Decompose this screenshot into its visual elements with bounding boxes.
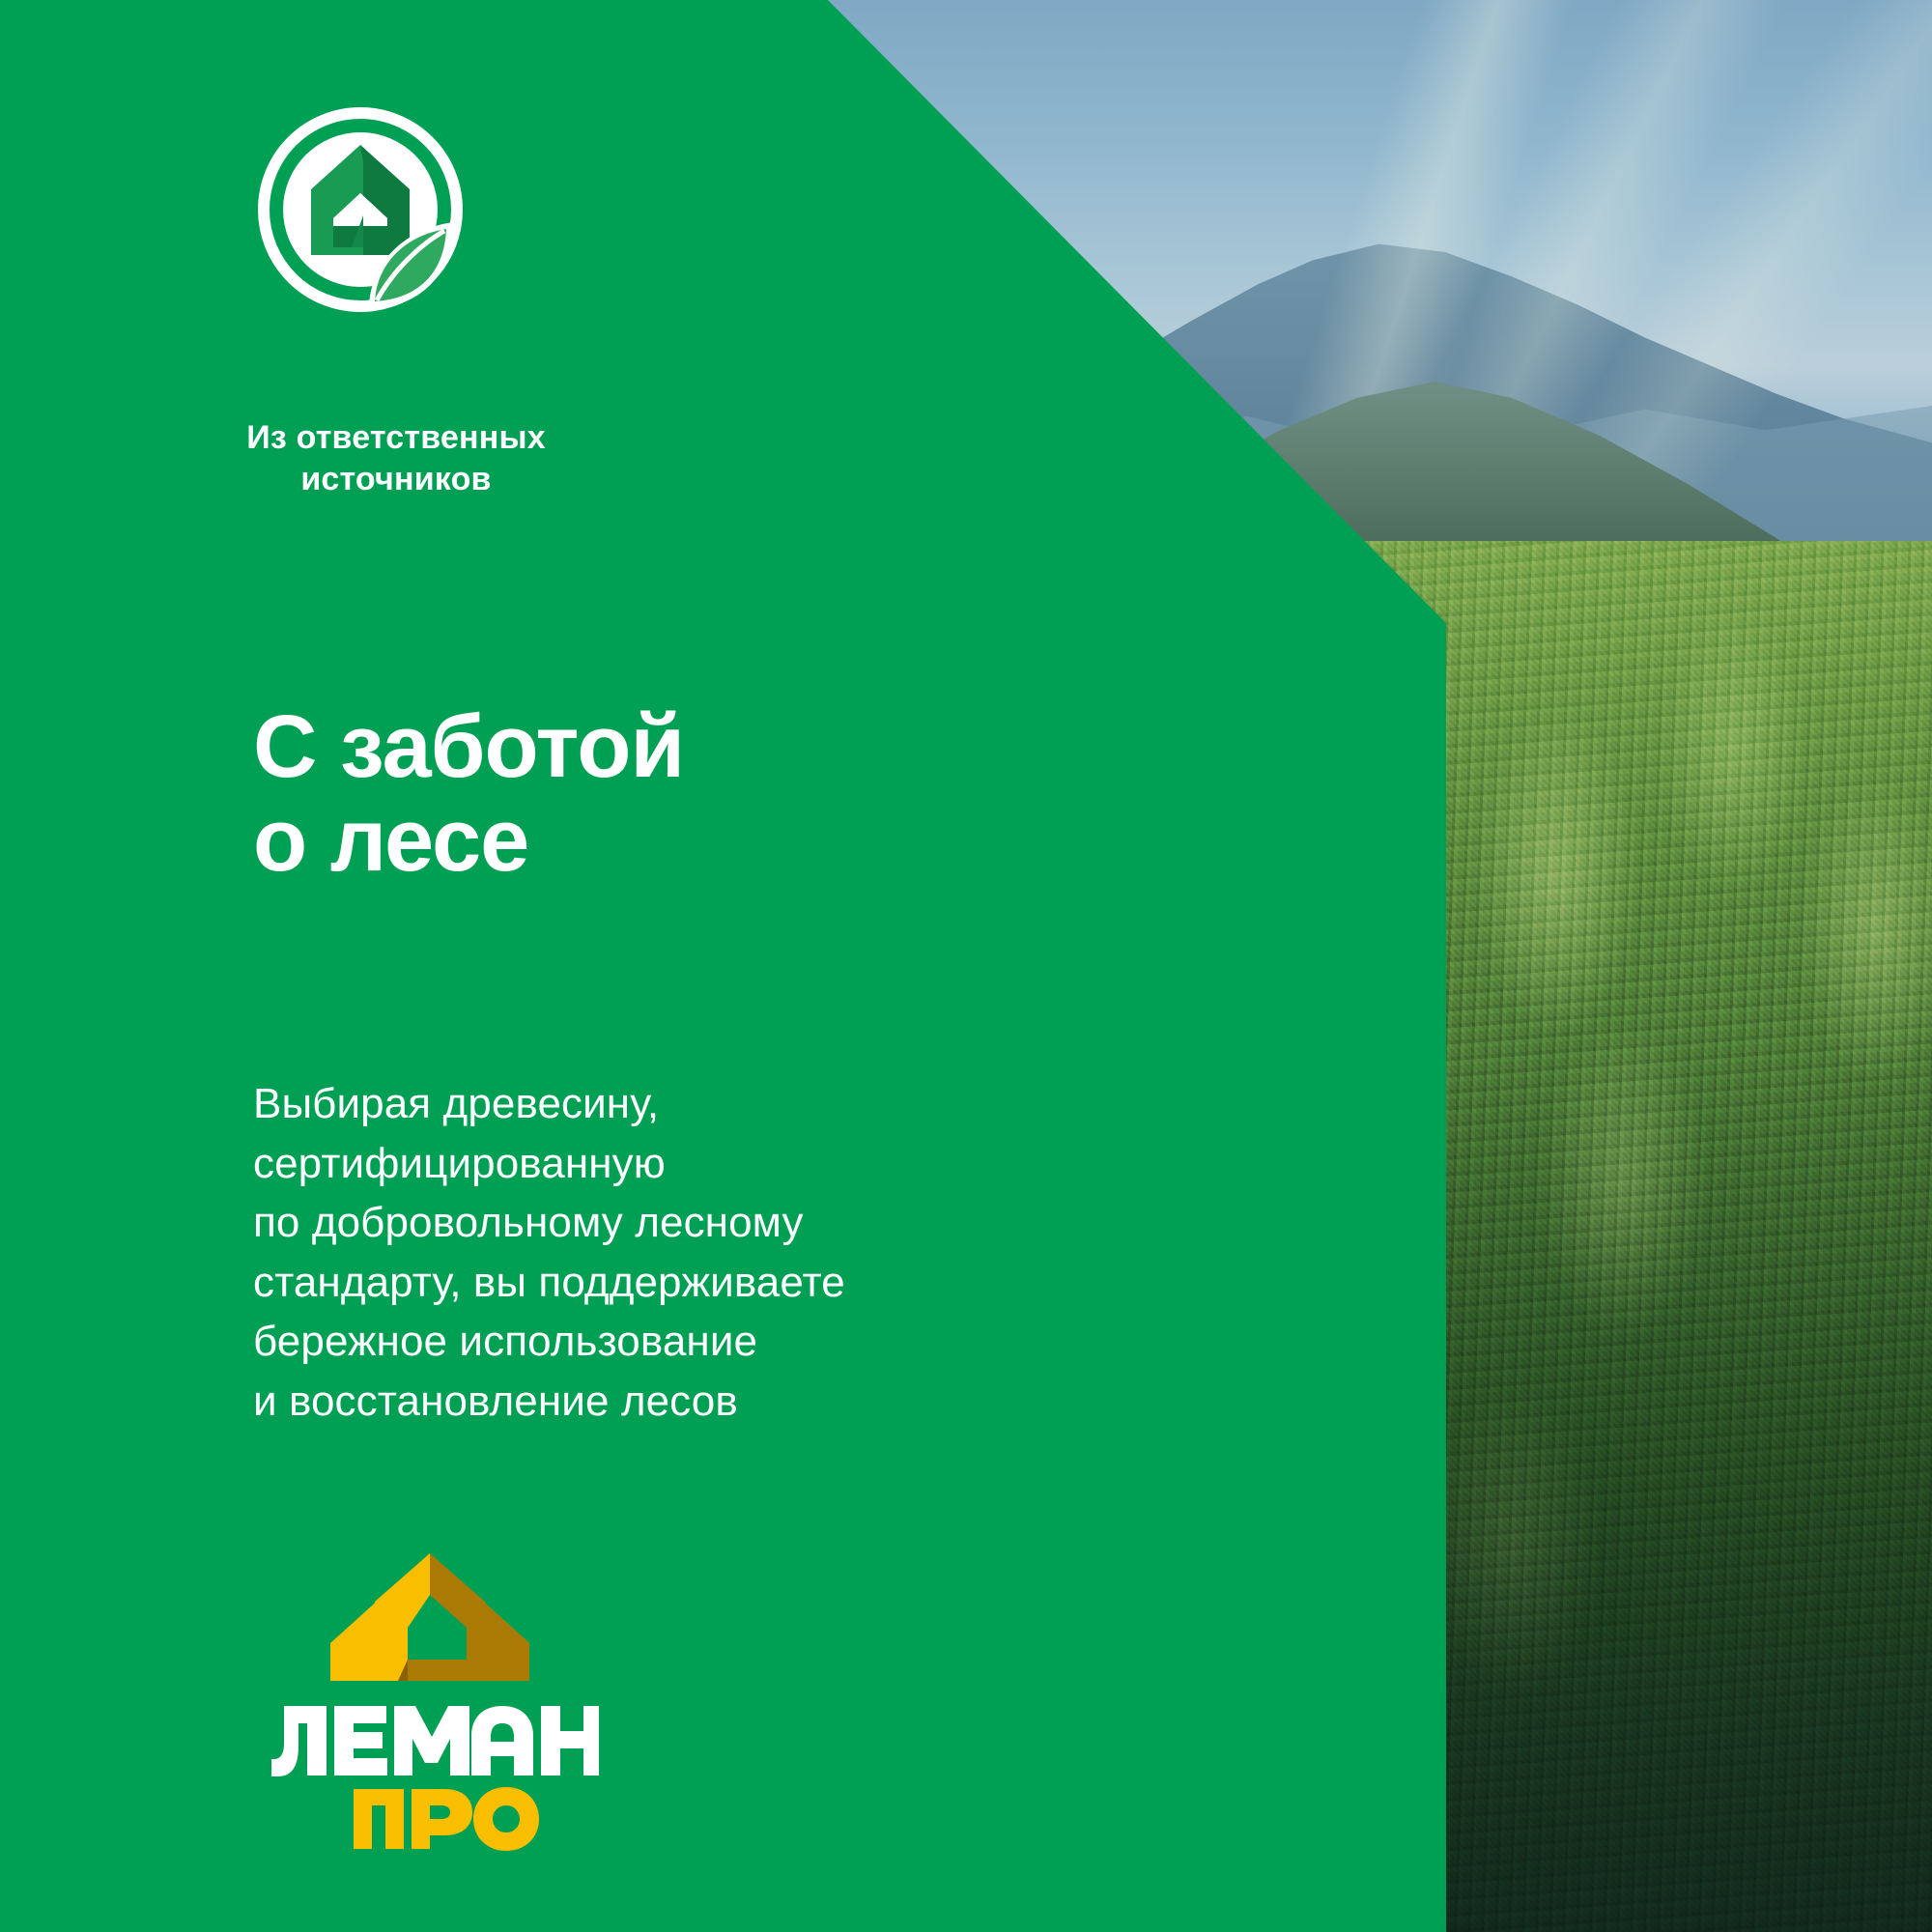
pro-wordmark xyxy=(354,1787,539,1851)
responsible-sourcing-badge-icon xyxy=(255,104,466,315)
badge-caption: Из ответственных источников xyxy=(193,417,599,500)
lemana-wordmark xyxy=(271,1706,599,1776)
body-paragraph: Выбирая древесину, сертифицированную по … xyxy=(253,1074,845,1432)
promo-poster: Из ответственных источников С заботой о … xyxy=(0,0,1932,1932)
lemana-pro-logo xyxy=(261,1542,599,1851)
lemana-house-icon xyxy=(330,1553,529,1681)
page-title: С заботой о лесе xyxy=(253,700,684,889)
